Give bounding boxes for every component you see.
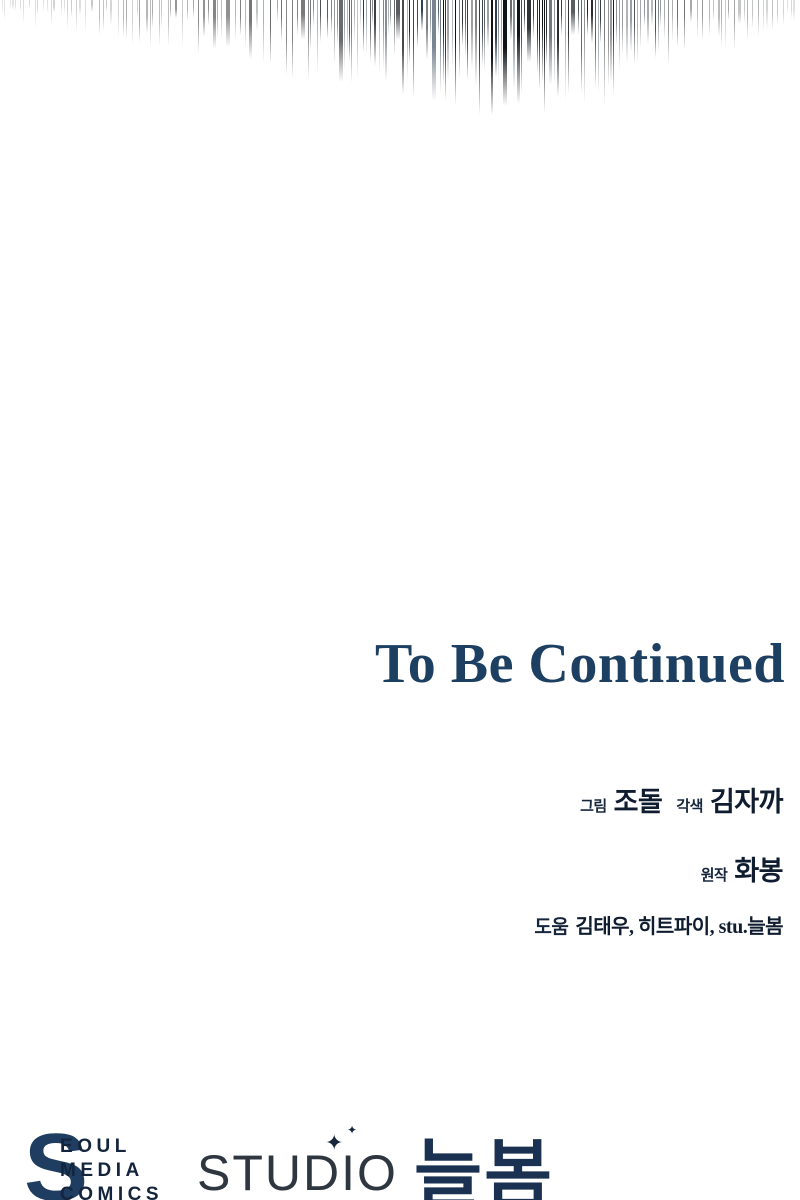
speed-line — [557, 0, 559, 97]
speed-line — [15, 0, 16, 11]
speed-line — [2, 0, 3, 14]
speed-line — [383, 0, 384, 69]
speed-line — [616, 0, 617, 45]
speed-line — [660, 0, 661, 27]
speed-line — [697, 0, 698, 39]
speed-line — [644, 0, 645, 26]
speed-line — [664, 0, 665, 40]
speed-line — [725, 0, 726, 52]
studio-text: STUDIO — [197, 1145, 398, 1200]
speed-line — [721, 0, 722, 48]
speed-line — [752, 0, 753, 28]
speed-line — [354, 0, 355, 43]
speed-line — [29, 0, 30, 9]
speed-line — [79, 0, 81, 16]
speed-line — [110, 0, 112, 26]
speed-line — [208, 0, 209, 26]
speed-line — [10, 0, 11, 9]
speed-line — [347, 0, 348, 53]
speed-line — [501, 0, 502, 74]
speed-line — [777, 0, 778, 25]
to-be-continued-title: To Be Continued — [0, 632, 785, 696]
speed-line — [263, 0, 264, 64]
speed-line — [783, 0, 784, 26]
speed-line — [763, 0, 764, 32]
speed-line — [53, 0, 55, 12]
speed-line — [35, 0, 36, 30]
speed-line — [634, 0, 635, 65]
star-small-icon: ✦ — [347, 1124, 359, 1136]
speed-line — [374, 0, 376, 66]
publisher-logo-strip: S EOUL MEDIA COMICS STUDIO ✦ ✦ 늘봄 — [24, 1120, 554, 1200]
speed-line — [655, 0, 656, 58]
speed-line — [578, 0, 579, 35]
speed-line — [622, 0, 623, 55]
speed-line — [99, 0, 100, 35]
speed-line — [407, 0, 408, 82]
speed-line — [626, 0, 628, 63]
speed-line — [491, 0, 493, 115]
speed-line — [430, 0, 431, 44]
speed-line — [126, 0, 127, 40]
speed-line — [728, 0, 729, 20]
speed-line — [137, 0, 138, 18]
speed-line — [475, 0, 477, 86]
speed-line — [690, 0, 692, 22]
speed-line — [565, 0, 566, 101]
speed-line — [123, 0, 124, 38]
speed-line — [533, 0, 534, 38]
speed-line — [366, 0, 367, 55]
speed-line — [161, 0, 162, 29]
speed-line — [608, 0, 609, 86]
speed-line — [270, 0, 271, 64]
speed-line — [630, 0, 632, 52]
speed-line — [465, 0, 466, 58]
speed-line — [67, 0, 68, 30]
speed-line — [245, 0, 246, 48]
speed-line — [379, 0, 380, 75]
speed-line — [413, 0, 414, 98]
speed-line — [791, 0, 792, 19]
seoul-word-line: COMICS — [60, 1183, 163, 1200]
speed-line — [394, 0, 395, 56]
credit-line: 원작화봉 — [0, 849, 783, 888]
speed-line — [640, 0, 641, 48]
speed-line — [713, 0, 714, 21]
speed-line — [445, 0, 446, 101]
speed-line — [159, 0, 160, 46]
speed-line — [357, 0, 358, 80]
speed-line — [766, 0, 768, 29]
speed-line — [12, 0, 14, 10]
speed-line — [591, 0, 593, 43]
speed-line — [249, 0, 252, 59]
speed-line — [587, 0, 588, 36]
speed-line — [544, 0, 545, 113]
speed-line — [772, 0, 773, 30]
speed-line — [388, 0, 389, 36]
speed-line — [595, 0, 596, 88]
speed-line — [524, 0, 525, 34]
speed-line — [103, 0, 104, 31]
credit-name: 김태우, 히트파이, stu.늘봄 — [575, 916, 783, 938]
speed-line — [235, 0, 236, 40]
speed-line — [390, 0, 391, 27]
speed-line — [281, 0, 282, 42]
seoul-media-comics-logo: S EOUL MEDIA COMICS — [24, 1120, 163, 1200]
speed-line — [658, 0, 659, 52]
speed-line — [517, 0, 520, 104]
seoul-media-comics-wordmark: EOUL MEDIA COMICS — [60, 1129, 163, 1200]
speed-line — [668, 0, 669, 65]
star-icon: ✦ — [325, 1132, 345, 1154]
speed-line — [71, 0, 72, 17]
speed-line — [561, 0, 562, 36]
speed-line — [619, 0, 620, 70]
speed-line — [647, 0, 649, 44]
speed-line — [396, 0, 400, 40]
speed-line — [734, 0, 735, 49]
credit-role: 원작 — [701, 867, 728, 884]
speed-line — [709, 0, 710, 36]
speed-line — [132, 0, 133, 46]
speed-line — [187, 0, 188, 21]
speed-line — [221, 0, 222, 40]
credit-name: 김자까 — [710, 787, 783, 817]
speed-line — [344, 0, 345, 70]
speed-line — [479, 0, 480, 115]
speed-line — [327, 0, 328, 39]
speed-line — [37, 0, 38, 15]
speed-line — [118, 0, 119, 39]
speed-line — [440, 0, 441, 94]
speed-line — [91, 0, 93, 12]
speed-line — [152, 0, 153, 28]
speed-line — [610, 0, 612, 82]
speed-line — [510, 0, 512, 40]
credit-name: 화봉 — [734, 856, 783, 886]
speed-line — [370, 0, 371, 63]
speed-line — [447, 0, 449, 80]
speed-line — [546, 0, 547, 64]
speed-line — [256, 0, 258, 31]
speed-line — [438, 0, 439, 35]
speed-line — [372, 0, 373, 26]
credits-block: 그림조돌각색김자까 원작화봉 도움김태우, 히트파이, stu.늘봄 — [0, 780, 783, 939]
speed-line — [339, 0, 343, 82]
speed-line — [542, 0, 543, 83]
speed-line — [64, 0, 65, 14]
speed-line — [421, 0, 423, 31]
speed-line — [637, 0, 638, 64]
speed-line — [226, 0, 230, 47]
speed-line — [467, 0, 468, 80]
speed-line — [718, 0, 720, 37]
speed-line — [203, 0, 205, 37]
speed-line — [402, 0, 404, 94]
speed-line — [744, 0, 745, 24]
speed-line — [471, 0, 473, 69]
speed-line — [426, 0, 428, 60]
speed-line — [484, 0, 485, 71]
speed-line — [146, 0, 148, 34]
speed-line — [443, 0, 444, 85]
speed-line — [320, 0, 321, 42]
speed-line — [170, 0, 171, 19]
speed-line — [349, 0, 350, 62]
speed-line — [487, 0, 489, 49]
neulbom-studio-logo: 늘봄 — [414, 1140, 554, 1200]
credit-line: 그림조돌각색김자까 — [0, 780, 783, 819]
speed-line — [385, 0, 387, 81]
speed-line — [277, 0, 278, 22]
speed-line — [495, 0, 497, 77]
speed-line — [360, 0, 361, 29]
speed-line — [651, 0, 653, 26]
speed-line — [85, 0, 86, 34]
speed-line — [76, 0, 77, 32]
speed-line — [521, 0, 522, 93]
speed-line — [702, 0, 703, 40]
speed-line — [363, 0, 364, 53]
studio-wordmark: STUDIO ✦ ✦ — [197, 1148, 398, 1198]
speed-line — [297, 0, 298, 35]
speed-line — [677, 0, 678, 48]
speed-line — [198, 0, 199, 53]
speed-line — [20, 0, 21, 12]
speed-line — [310, 0, 311, 50]
speed-line — [452, 0, 453, 69]
speed-line — [539, 0, 540, 90]
seoul-word-line: MEDIA — [60, 1159, 163, 1183]
speed-line — [193, 0, 194, 18]
speed-line — [554, 0, 555, 85]
credit-role: 각색 — [676, 798, 703, 815]
speed-line — [598, 0, 599, 94]
speed-line — [150, 0, 151, 47]
credit-name: 조돌 — [614, 787, 663, 817]
speed-line — [537, 0, 538, 74]
speed-line — [23, 0, 24, 24]
speed-line — [571, 0, 575, 35]
speed-line — [168, 0, 169, 46]
speed-line — [613, 0, 614, 95]
speed-line — [758, 0, 759, 37]
speed-line — [584, 0, 585, 104]
speed-line — [61, 0, 62, 15]
speed-line — [747, 0, 748, 41]
speed-line — [527, 0, 531, 62]
speed-line — [549, 0, 552, 85]
speed-line — [308, 0, 309, 80]
speed-line — [139, 0, 140, 43]
speed-line — [240, 0, 241, 36]
seoul-word-line: EOUL — [60, 1135, 163, 1159]
speed-line — [317, 0, 318, 75]
speed-line — [600, 0, 601, 43]
credit-role: 도움 — [534, 917, 568, 938]
speed-line — [213, 0, 216, 49]
speed-line — [787, 0, 788, 13]
speed-line — [292, 0, 293, 78]
speed-line — [672, 0, 673, 42]
speed-line — [498, 0, 499, 82]
speed-line — [738, 0, 741, 24]
speed-line — [182, 0, 183, 47]
speed-line — [337, 0, 338, 45]
speed-line — [417, 0, 418, 48]
comic-episode-end-page: To Be Continued 그림조돌각색김자까 원작화봉 도움김태우, 히트… — [0, 0, 800, 1200]
speed-line — [513, 0, 515, 90]
speed-line — [503, 0, 507, 106]
speed-line — [459, 0, 460, 78]
speed-line — [217, 0, 218, 39]
speed-line — [432, 0, 436, 101]
speed-line — [455, 0, 456, 105]
speed-line — [47, 0, 48, 13]
speed-line — [334, 0, 335, 65]
speed-line — [175, 0, 177, 18]
speed-line — [604, 0, 605, 106]
speed-line — [331, 0, 332, 34]
credit-role: 그림 — [580, 798, 607, 815]
speed-line — [286, 0, 287, 75]
speed-line — [793, 0, 795, 21]
speed-line — [351, 0, 352, 83]
vertical-speed-lines — [0, 0, 800, 115]
speed-line — [43, 0, 44, 11]
speed-line — [462, 0, 463, 46]
credit-line: 도움김태우, 히트파이, stu.늘봄 — [0, 910, 783, 939]
speed-line — [313, 0, 314, 27]
speed-line — [4, 0, 5, 21]
speed-line — [482, 0, 483, 66]
speed-line — [106, 0, 107, 12]
speed-line — [51, 0, 52, 25]
speed-line — [684, 0, 685, 50]
speed-line — [568, 0, 569, 93]
speed-line — [409, 0, 410, 63]
speed-line — [301, 0, 305, 40]
speed-line — [581, 0, 582, 93]
